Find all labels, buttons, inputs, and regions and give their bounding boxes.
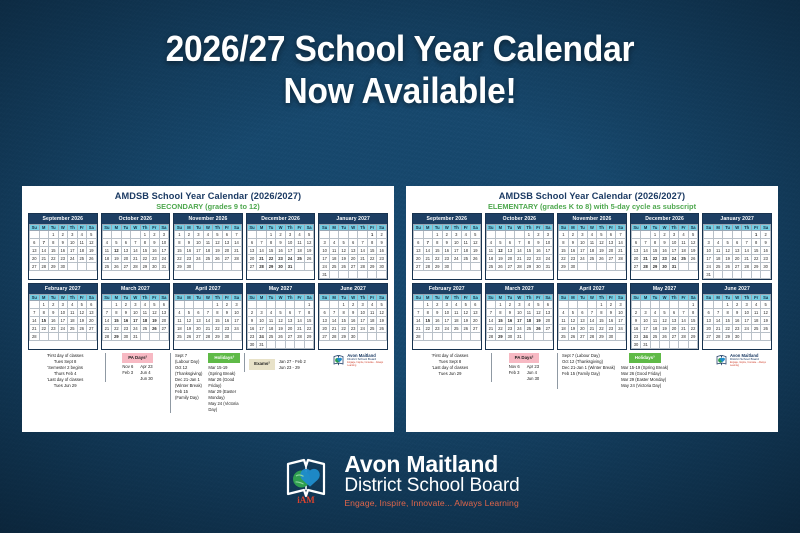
day-cell[interactable]: 21 [616, 247, 626, 255]
day-cell[interactable]: 8 [112, 309, 122, 317]
day-cell[interactable]: 9 [442, 239, 452, 247]
day-cell[interactable]: 4 [452, 301, 462, 309]
day-cell[interactable]: 20 [30, 255, 40, 263]
day-cell[interactable]: 27 [471, 325, 481, 333]
day-cell[interactable]: 28 [329, 333, 339, 341]
day-cell[interactable]: 4 [713, 239, 723, 247]
day-cell[interactable]: 1 [524, 231, 534, 239]
day-cell[interactable]: 11 [559, 317, 569, 325]
day-cell[interactable]: 15 [140, 247, 150, 255]
day-cell[interactable]: 21 [30, 325, 40, 333]
day-cell[interactable]: 10 [194, 239, 204, 247]
day-cell[interactable]: 11 [102, 247, 112, 255]
day-cell[interactable]: 15 [559, 247, 569, 255]
day-cell[interactable]: 17 [131, 317, 141, 325]
day-cell[interactable]: 20 [121, 255, 131, 263]
day-cell[interactable]: 18 [587, 247, 597, 255]
day-cell[interactable]: 5 [660, 309, 670, 317]
day-cell[interactable]: 16 [568, 247, 578, 255]
day-cell[interactable]: 4 [77, 231, 87, 239]
day-cell[interactable]: 21 [295, 325, 305, 333]
day-cell[interactable]: 3 [232, 301, 242, 309]
day-cell[interactable]: 15 [304, 317, 314, 325]
day-cell[interactable]: 9 [49, 309, 59, 317]
day-cell[interactable]: 26 [87, 255, 97, 263]
day-cell[interactable]: 15 [49, 247, 59, 255]
day-cell[interactable]: 8 [650, 239, 660, 247]
day-cell[interactable]: 14 [641, 247, 651, 255]
day-cell[interactable]: 17 [669, 247, 679, 255]
day-cell[interactable]: 3 [543, 231, 553, 239]
day-cell[interactable]: 11 [486, 247, 496, 255]
day-cell[interactable]: 3 [669, 231, 679, 239]
day-cell[interactable]: 26 [276, 333, 286, 341]
day-cell[interactable]: 6 [87, 301, 97, 309]
day-cell[interactable]: 20 [414, 255, 424, 263]
day-cell[interactable]: 10 [578, 239, 588, 247]
day-cell[interactable]: 25 [175, 333, 185, 341]
day-cell[interactable]: 16 [184, 247, 194, 255]
day-cell[interactable]: 2 [732, 301, 742, 309]
day-cell[interactable]: 23 [568, 255, 578, 263]
day-cell[interactable]: 15 [524, 247, 534, 255]
day-cell[interactable]: 28 [423, 263, 433, 271]
day-cell[interactable]: 18 [751, 317, 761, 325]
day-cell[interactable]: 26 [534, 325, 544, 333]
day-cell[interactable]: 27 [704, 333, 714, 341]
day-cell[interactable]: 26 [761, 325, 771, 333]
day-cell[interactable]: 27 [121, 263, 131, 271]
day-cell[interactable]: 22 [140, 255, 150, 263]
day-cell[interactable]: 15 [175, 247, 185, 255]
month-june-2027[interactable]: June 2027SuMTuWThFrSa1234567891011121314… [702, 283, 772, 350]
day-cell[interactable]: 21 [423, 255, 433, 263]
day-cell[interactable]: 23 [631, 333, 641, 341]
day-cell[interactable]: 28 [515, 263, 525, 271]
day-cell[interactable]: 8 [723, 309, 733, 317]
day-cell[interactable]: 17 [442, 317, 452, 325]
day-cell[interactable]: 20 [471, 317, 481, 325]
day-cell[interactable]: 8 [175, 239, 185, 247]
day-cell[interactable]: 27 [631, 263, 641, 271]
day-cell[interactable]: 17 [641, 325, 651, 333]
day-cell[interactable]: 8 [49, 239, 59, 247]
day-cell[interactable]: 30 [505, 333, 515, 341]
day-cell[interactable]: 18 [650, 325, 660, 333]
day-cell[interactable]: 8 [433, 239, 443, 247]
day-cell[interactable]: 17 [194, 247, 204, 255]
month-february-2027[interactable]: February 2027SuMTuWThFrSa123456789101112… [28, 283, 98, 350]
day-cell[interactable]: 10 [232, 309, 242, 317]
day-cell[interactable]: 2 [49, 301, 59, 309]
day-cell[interactable]: 3 [578, 231, 588, 239]
day-cell[interactable]: 3 [515, 301, 525, 309]
day-cell[interactable]: 23 [505, 325, 515, 333]
day-cell[interactable]: 25 [77, 255, 87, 263]
day-cell[interactable]: 20 [348, 255, 358, 263]
day-cell[interactable]: 8 [367, 239, 377, 247]
day-cell[interactable]: 29 [112, 333, 122, 341]
day-cell[interactable]: 13 [578, 317, 588, 325]
day-cell[interactable]: 10 [68, 239, 78, 247]
day-cell[interactable]: 14 [329, 317, 339, 325]
day-cell[interactable]: 4 [68, 301, 78, 309]
day-cell[interactable]: 13 [631, 247, 641, 255]
month-april-2027[interactable]: April 2027SuMTuWThFrSa123456789101112131… [557, 283, 627, 350]
day-cell[interactable]: 19 [461, 317, 471, 325]
day-cell[interactable]: 1 [496, 301, 506, 309]
day-cell[interactable]: 8 [751, 239, 761, 247]
day-cell[interactable]: 27 [348, 263, 358, 271]
day-cell[interactable]: 31 [704, 271, 714, 279]
day-cell[interactable]: 19 [276, 325, 286, 333]
day-cell[interactable]: 24 [257, 333, 267, 341]
day-cell[interactable]: 11 [650, 317, 660, 325]
day-cell[interactable]: 25 [713, 263, 723, 271]
day-cell[interactable]: 19 [496, 255, 506, 263]
day-cell[interactable]: 1 [39, 301, 49, 309]
day-cell[interactable]: 20 [669, 325, 679, 333]
day-cell[interactable]: 29 [339, 333, 349, 341]
day-cell[interactable]: 11 [329, 247, 339, 255]
day-cell[interactable]: 23 [247, 333, 257, 341]
day-cell[interactable]: 1 [112, 301, 122, 309]
day-cell[interactable]: 7 [131, 239, 141, 247]
day-cell[interactable]: 21 [329, 325, 339, 333]
day-cell[interactable]: 29 [597, 333, 607, 341]
day-cell[interactable]: 24 [194, 255, 204, 263]
day-cell[interactable]: 27 [414, 263, 424, 271]
day-cell[interactable]: 22 [175, 255, 185, 263]
day-cell[interactable]: 28 [713, 333, 723, 341]
day-cell[interactable]: 13 [87, 309, 97, 317]
day-cell[interactable]: 31 [159, 263, 169, 271]
day-cell[interactable]: 18 [461, 247, 471, 255]
day-cell[interactable]: 18 [559, 325, 569, 333]
day-cell[interactable]: 12 [723, 247, 733, 255]
day-cell[interactable]: 14 [679, 317, 689, 325]
day-cell[interactable]: 9 [631, 317, 641, 325]
day-cell[interactable]: 24 [68, 255, 78, 263]
day-cell[interactable]: 11 [175, 317, 185, 325]
day-cell[interactable]: 17 [704, 255, 714, 263]
day-cell[interactable]: 26 [496, 263, 506, 271]
day-cell[interactable]: 1 [339, 301, 349, 309]
day-cell[interactable]: 12 [150, 309, 160, 317]
day-cell[interactable]: 21 [203, 325, 213, 333]
day-cell[interactable]: 6 [348, 239, 358, 247]
day-cell[interactable]: 28 [232, 255, 242, 263]
day-cell[interactable]: 8 [140, 239, 150, 247]
day-cell[interactable]: 16 [505, 317, 515, 325]
day-cell[interactable]: 10 [543, 239, 553, 247]
day-cell[interactable]: 21 [587, 325, 597, 333]
day-cell[interactable]: 6 [732, 239, 742, 247]
day-cell[interactable]: 26 [688, 255, 698, 263]
day-cell[interactable]: 26 [213, 255, 223, 263]
day-cell[interactable]: 11 [461, 239, 471, 247]
day-cell[interactable]: 6 [669, 309, 679, 317]
day-cell[interactable]: 10 [58, 309, 68, 317]
day-cell[interactable]: 6 [247, 239, 257, 247]
day-cell[interactable]: 13 [704, 317, 714, 325]
day-cell[interactable]: 16 [348, 317, 358, 325]
day-cell[interactable]: 4 [524, 301, 534, 309]
day-cell[interactable]: 9 [276, 239, 286, 247]
day-cell[interactable]: 1 [367, 231, 377, 239]
day-cell[interactable]: 1 [688, 301, 698, 309]
day-cell[interactable]: 9 [58, 239, 68, 247]
day-cell[interactable]: 13 [159, 309, 169, 317]
day-cell[interactable]: 7 [295, 309, 305, 317]
day-cell[interactable]: 5 [568, 309, 578, 317]
day-cell[interactable]: 31 [515, 333, 525, 341]
day-cell[interactable]: 19 [568, 325, 578, 333]
day-cell[interactable]: 4 [175, 309, 185, 317]
day-cell[interactable]: 22 [49, 255, 59, 263]
day-cell[interactable]: 25 [650, 333, 660, 341]
month-october-2026[interactable]: October 2026SuMTuWThFrSa1234567891011121… [101, 213, 171, 280]
day-cell[interactable]: 9 [606, 309, 616, 317]
day-cell[interactable]: 19 [597, 247, 607, 255]
day-cell[interactable]: 2 [534, 231, 544, 239]
day-cell[interactable]: 3 [704, 239, 714, 247]
day-cell[interactable]: 1 [597, 301, 607, 309]
day-cell[interactable]: 19 [112, 255, 122, 263]
day-cell[interactable]: 14 [713, 317, 723, 325]
day-cell[interactable]: 29 [175, 263, 185, 271]
day-cell[interactable]: 21 [232, 247, 242, 255]
day-cell[interactable]: 15 [688, 317, 698, 325]
day-cell[interactable]: 6 [222, 231, 232, 239]
day-cell[interactable]: 10 [159, 239, 169, 247]
day-cell[interactable]: 6 [704, 309, 714, 317]
day-cell[interactable]: 30 [377, 263, 387, 271]
day-cell[interactable]: 31 [131, 333, 141, 341]
day-cell[interactable]: 18 [329, 255, 339, 263]
day-cell[interactable]: 11 [203, 239, 213, 247]
day-cell[interactable]: 26 [568, 333, 578, 341]
day-cell[interactable]: 7 [616, 231, 626, 239]
day-cell[interactable]: 19 [87, 247, 97, 255]
day-cell[interactable]: 1 [140, 231, 150, 239]
day-cell[interactable]: 12 [597, 239, 607, 247]
day-cell[interactable]: 20 [543, 317, 553, 325]
day-cell[interactable]: 13 [505, 247, 515, 255]
month-june-2027[interactable]: June 2027SuMTuWThFrSa1234567891011121314… [318, 283, 388, 350]
day-cell[interactable]: 4 [559, 309, 569, 317]
day-cell[interactable]: 12 [568, 317, 578, 325]
day-cell[interactable]: 21 [358, 255, 368, 263]
day-cell[interactable]: 29 [304, 333, 314, 341]
day-cell[interactable]: 8 [423, 309, 433, 317]
day-cell[interactable]: 6 [631, 239, 641, 247]
day-cell[interactable]: 7 [641, 239, 651, 247]
day-cell[interactable]: 8 [213, 309, 223, 317]
day-cell[interactable]: 24 [452, 255, 462, 263]
day-cell[interactable]: 1 [304, 301, 314, 309]
day-cell[interactable]: 22 [367, 255, 377, 263]
day-cell[interactable]: 19 [471, 247, 481, 255]
day-cell[interactable]: 7 [486, 309, 496, 317]
day-cell[interactable]: 5 [723, 239, 733, 247]
day-cell[interactable]: 18 [68, 317, 78, 325]
day-cell[interactable]: 14 [515, 247, 525, 255]
day-cell[interactable]: 10 [515, 309, 525, 317]
day-cell[interactable]: 7 [423, 239, 433, 247]
day-cell[interactable]: 27 [159, 325, 169, 333]
month-november-2026[interactable]: November 2026SuMTuWThFrSa123456789101112… [173, 213, 243, 280]
day-cell[interactable]: 2 [184, 231, 194, 239]
day-cell[interactable]: 7 [39, 239, 49, 247]
month-may-2027[interactable]: May 2027SuMTuWThFrSa12345678910111213141… [246, 283, 316, 350]
day-cell[interactable]: 23 [377, 255, 387, 263]
day-cell[interactable]: 2 [222, 301, 232, 309]
day-cell[interactable]: 14 [414, 317, 424, 325]
day-cell[interactable]: 26 [77, 325, 87, 333]
day-cell[interactable]: 31 [257, 341, 267, 349]
day-cell[interactable]: 31 [320, 271, 330, 279]
day-cell[interactable]: 3 [641, 309, 651, 317]
day-cell[interactable]: 28 [102, 333, 112, 341]
day-cell[interactable]: 25 [452, 325, 462, 333]
day-cell[interactable]: 22 [304, 325, 314, 333]
day-cell[interactable]: 16 [377, 247, 387, 255]
day-cell[interactable]: 22 [597, 325, 607, 333]
day-cell[interactable]: 16 [49, 317, 59, 325]
day-cell[interactable]: 20 [320, 325, 330, 333]
day-cell[interactable]: 19 [534, 317, 544, 325]
day-cell[interactable]: 2 [121, 301, 131, 309]
day-cell[interactable]: 14 [295, 317, 305, 325]
day-cell[interactable]: 27 [606, 255, 616, 263]
day-cell[interactable]: 27 [732, 263, 742, 271]
day-cell[interactable]: 6 [320, 309, 330, 317]
day-cell[interactable]: 23 [761, 255, 771, 263]
day-cell[interactable]: 9 [348, 309, 358, 317]
day-cell[interactable]: 30 [660, 263, 670, 271]
month-may-2027[interactable]: May 2027SuMTuWThFrSa12345678910111213141… [630, 283, 700, 350]
day-cell[interactable]: 2 [660, 231, 670, 239]
day-cell[interactable]: 8 [597, 309, 607, 317]
day-cell[interactable]: 20 [505, 255, 515, 263]
day-cell[interactable]: 16 [606, 317, 616, 325]
day-cell[interactable]: 19 [213, 247, 223, 255]
day-cell[interactable]: 15 [213, 317, 223, 325]
day-cell[interactable]: 13 [348, 247, 358, 255]
day-cell[interactable]: 28 [203, 333, 213, 341]
day-cell[interactable]: 21 [486, 325, 496, 333]
day-cell[interactable]: 24 [159, 255, 169, 263]
day-cell[interactable]: 2 [505, 301, 515, 309]
day-cell[interactable]: 8 [524, 239, 534, 247]
day-cell[interactable]: 25 [524, 325, 534, 333]
day-cell[interactable]: 23 [534, 255, 544, 263]
day-cell[interactable]: 18 [524, 317, 534, 325]
day-cell[interactable]: 12 [87, 239, 97, 247]
day-cell[interactable]: 16 [534, 247, 544, 255]
month-january-2027[interactable]: January 2027SuMTuWThFrSa1234567891011121… [702, 213, 772, 280]
day-cell[interactable]: 20 [194, 325, 204, 333]
month-october-2026[interactable]: October 2026SuMTuWThFrSa1234567891011121… [485, 213, 555, 280]
day-cell[interactable]: 26 [304, 255, 314, 263]
day-cell[interactable]: 22 [688, 325, 698, 333]
day-cell[interactable]: 24 [58, 325, 68, 333]
day-cell[interactable]: 31 [285, 263, 295, 271]
day-cell[interactable]: 26 [461, 325, 471, 333]
day-cell[interactable]: 4 [650, 309, 660, 317]
day-cell[interactable]: 20 [578, 325, 588, 333]
day-cell[interactable]: 2 [433, 301, 443, 309]
day-cell[interactable]: 24 [285, 255, 295, 263]
day-cell[interactable]: 17 [452, 247, 462, 255]
day-cell[interactable]: 27 [505, 263, 515, 271]
day-cell[interactable]: 25 [203, 255, 213, 263]
day-cell[interactable]: 8 [304, 309, 314, 317]
day-cell[interactable]: 10 [320, 247, 330, 255]
day-cell[interactable]: 13 [247, 247, 257, 255]
day-cell[interactable]: 13 [320, 317, 330, 325]
day-cell[interactable]: 24 [669, 255, 679, 263]
day-cell[interactable]: 22 [433, 255, 443, 263]
day-cell[interactable]: 29 [723, 333, 733, 341]
day-cell[interactable]: 12 [339, 247, 349, 255]
day-cell[interactable]: 3 [68, 231, 78, 239]
day-cell[interactable]: 3 [742, 301, 752, 309]
day-cell[interactable]: 26 [377, 325, 387, 333]
day-cell[interactable]: 14 [742, 247, 752, 255]
day-cell[interactable]: 17 [58, 317, 68, 325]
day-cell[interactable]: 23 [433, 325, 443, 333]
day-cell[interactable]: 20 [285, 325, 295, 333]
day-cell[interactable]: 7 [203, 309, 213, 317]
day-cell[interactable]: 27 [247, 263, 257, 271]
day-cell[interactable]: 30 [58, 263, 68, 271]
day-cell[interactable]: 31 [543, 263, 553, 271]
day-cell[interactable]: 11 [713, 247, 723, 255]
day-cell[interactable]: 4 [679, 231, 689, 239]
day-cell[interactable]: 17 [257, 325, 267, 333]
day-cell[interactable]: 19 [723, 255, 733, 263]
day-cell[interactable]: 1 [723, 301, 733, 309]
day-cell[interactable]: 26 [112, 263, 122, 271]
month-march-2027[interactable]: March 2027SuMTuWThFrSa123456789101112131… [485, 283, 555, 350]
day-cell[interactable]: 26 [184, 333, 194, 341]
day-cell[interactable]: 19 [377, 317, 387, 325]
day-cell[interactable]: 27 [543, 325, 553, 333]
day-cell[interactable]: 8 [688, 309, 698, 317]
calendar-card-elementary[interactable]: AMDSB School Year Calendar (2026/2027) E… [406, 186, 778, 432]
day-cell[interactable]: 17 [159, 247, 169, 255]
day-cell[interactable]: 23 [442, 255, 452, 263]
day-cell[interactable]: 4 [266, 309, 276, 317]
day-cell[interactable]: 28 [257, 263, 267, 271]
day-cell[interactable]: 5 [77, 301, 87, 309]
day-cell[interactable]: 3 [131, 301, 141, 309]
day-cell[interactable]: 13 [121, 247, 131, 255]
day-cell[interactable]: 19 [761, 317, 771, 325]
day-cell[interactable]: 2 [568, 231, 578, 239]
day-cell[interactable]: 1 [423, 301, 433, 309]
day-cell[interactable]: 18 [102, 255, 112, 263]
day-cell[interactable]: 15 [597, 317, 607, 325]
day-cell[interactable]: 20 [222, 247, 232, 255]
day-cell[interactable]: 23 [348, 325, 358, 333]
day-cell[interactable]: 9 [433, 309, 443, 317]
day-cell[interactable]: 5 [213, 231, 223, 239]
day-cell[interactable]: 27 [578, 333, 588, 341]
day-cell[interactable]: 11 [751, 309, 761, 317]
